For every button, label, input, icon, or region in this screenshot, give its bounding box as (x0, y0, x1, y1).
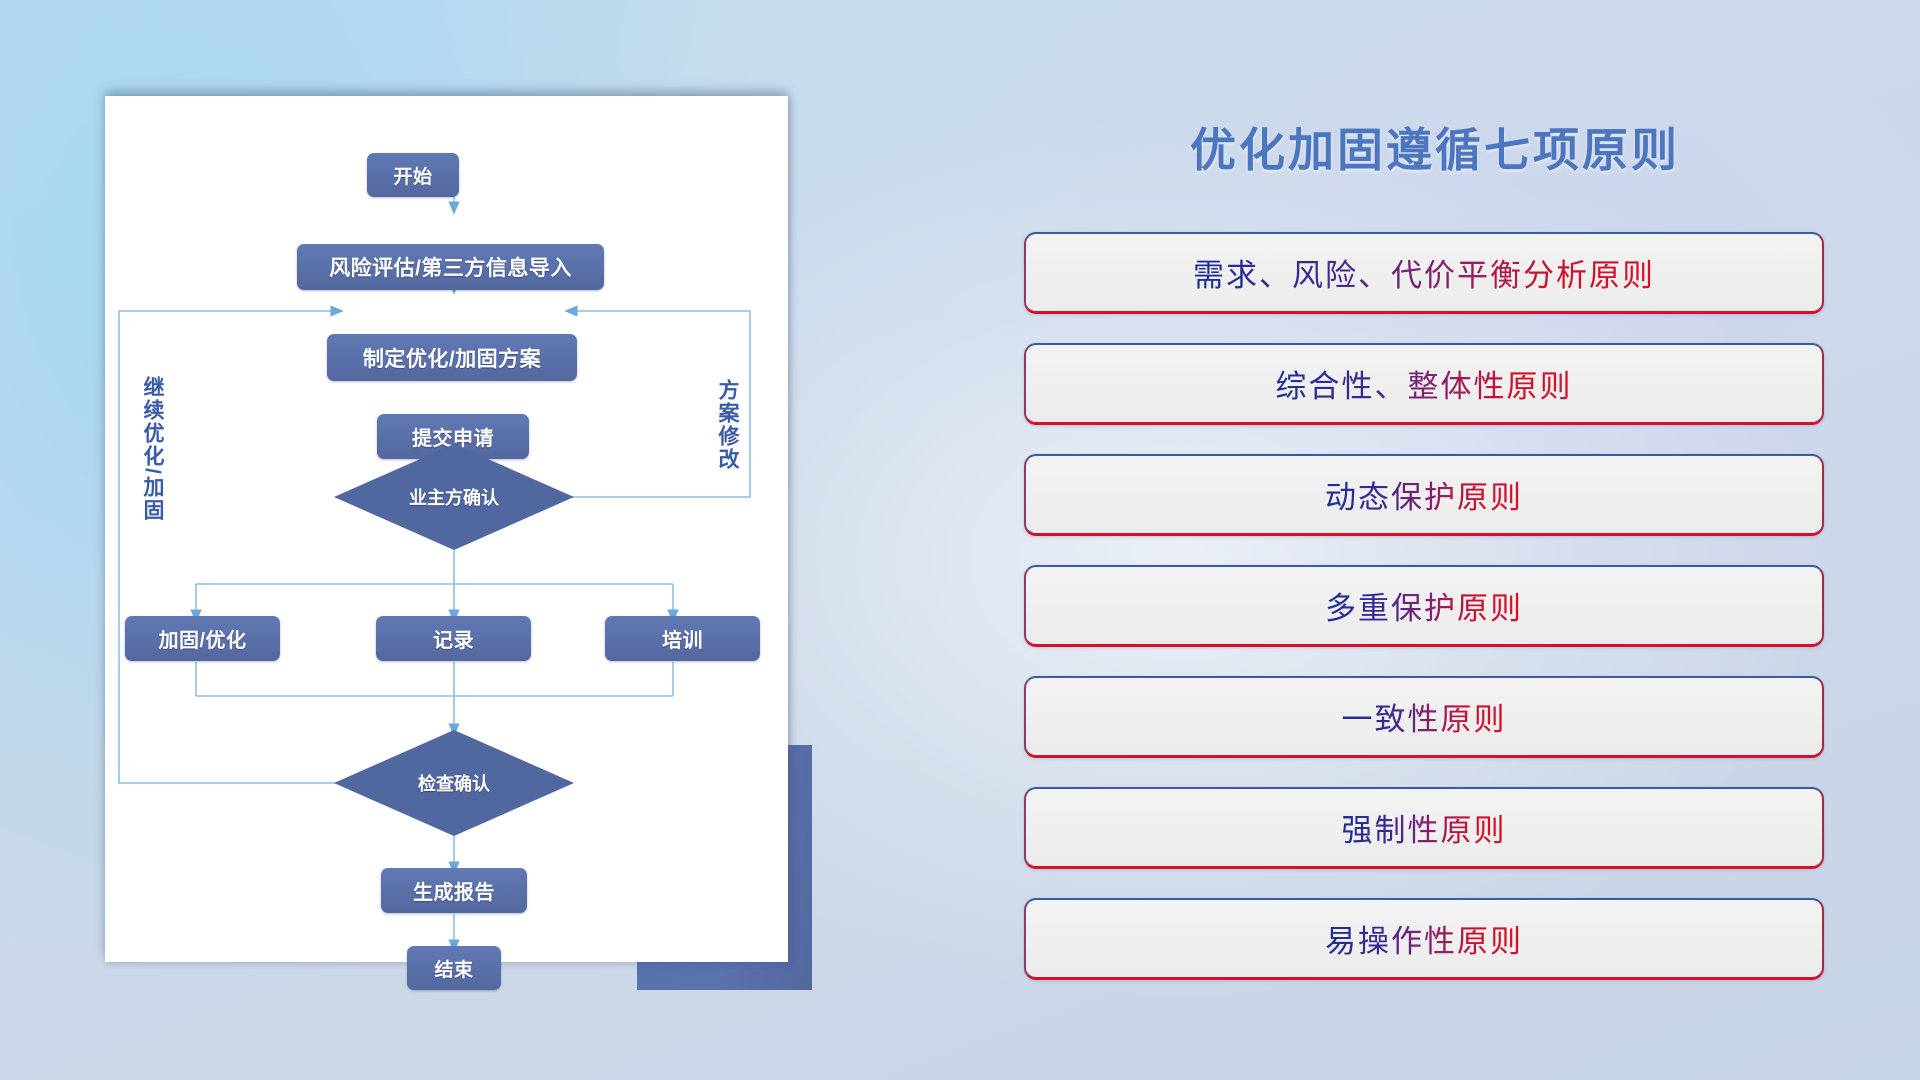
flow-node-training[interactable]: 培训 (605, 616, 760, 661)
principles-title: 优化加固遵循七项原则 (1030, 114, 1840, 180)
principle-card-label: 动态保护原则 (1325, 472, 1523, 517)
flow-node-training-label: 培训 (662, 624, 703, 653)
flow-node-owner-confirm[interactable]: 业主方确认 (334, 444, 574, 550)
flowchart-panel: 开始 风险评估/第三方信息导入 制定优化/加固方案 提交申请 业主方确认 加固/… (105, 96, 788, 962)
slide-canvas: 开始 风险评估/第三方信息导入 制定优化/加固方案 提交申请 业主方确认 加固/… (0, 0, 1920, 1080)
principle-card-label: 综合性、整体性原则 (1276, 361, 1573, 406)
flow-node-reinforce-optimize[interactable]: 加固/优化 (125, 616, 280, 661)
flow-node-end[interactable]: 结束 (407, 946, 501, 990)
flow-node-owner-confirm-label: 业主方确认 (409, 484, 499, 510)
flow-node-make-plan-label: 制定优化/加固方案 (363, 343, 541, 373)
principle-card[interactable]: 综合性、整体性原则 (1024, 343, 1824, 425)
principle-card-label: 需求、风险、代价平衡分析原则 (1193, 250, 1655, 295)
principle-card[interactable]: 需求、风险、代价平衡分析原则 (1024, 232, 1824, 314)
flow-edge-label-right-loop: 方案修改 (716, 379, 738, 471)
flow-node-record-label: 记录 (433, 624, 474, 653)
principle-card[interactable]: 强制性原则 (1024, 787, 1824, 869)
principle-card-label: 多重保护原则 (1325, 583, 1523, 628)
flow-node-risk-assessment-label: 风险评估/第三方信息导入 (329, 252, 572, 282)
flow-node-end-label: 结束 (434, 955, 473, 982)
flow-edge-label-left-loop: 继续优化/加固 (141, 376, 163, 522)
flow-node-risk-assessment[interactable]: 风险评估/第三方信息导入 (297, 244, 604, 290)
principle-card-label: 强制性原则 (1342, 805, 1507, 850)
principle-card-label: 易操作性原则 (1325, 916, 1523, 961)
flow-node-make-plan[interactable]: 制定优化/加固方案 (327, 334, 577, 381)
principle-card[interactable]: 多重保护原则 (1024, 565, 1824, 647)
flow-node-reinforce-optimize-label: 加固/优化 (158, 624, 246, 653)
flow-node-start[interactable]: 开始 (367, 153, 459, 197)
flow-node-generate-report[interactable]: 生成报告 (381, 868, 527, 913)
flow-node-record[interactable]: 记录 (376, 616, 531, 661)
flow-node-check-confirm[interactable]: 检查确认 (334, 730, 574, 836)
principles-card-list: 需求、风险、代价平衡分析原则 综合性、整体性原则 动态保护原则 多重保护原则 一… (1024, 232, 1824, 1009)
principle-card[interactable]: 易操作性原则 (1024, 898, 1824, 980)
principle-card-label: 一致性原则 (1342, 694, 1507, 739)
flow-node-generate-report-label: 生成报告 (413, 876, 495, 905)
principle-card[interactable]: 动态保护原则 (1024, 454, 1824, 536)
flow-node-check-confirm-label: 检查确认 (418, 770, 490, 796)
principle-card[interactable]: 一致性原则 (1024, 676, 1824, 758)
flow-node-start-label: 开始 (393, 162, 432, 189)
